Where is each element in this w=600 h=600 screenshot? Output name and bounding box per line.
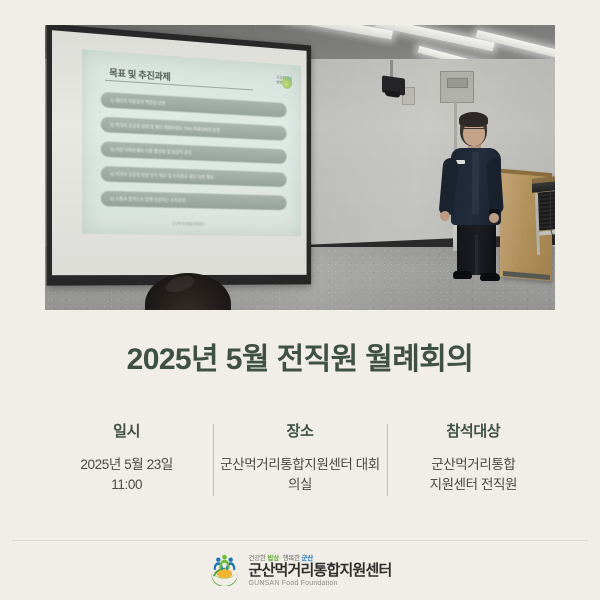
info-line: 군산먹거리통합지원센터 대회의실 [219, 455, 380, 494]
info-heading: 참석대상 [393, 420, 554, 441]
projection-screen: 목표 및 추진과제 건강한 밥상 행복한 군산 1) 재단의 자율성과 책임성 … [47, 25, 312, 286]
photo-scene: 목표 및 추진과제 건강한 밥상 행복한 군산 1) 재단의 자율성과 책임성 … [45, 25, 555, 310]
projector-icon [382, 75, 405, 95]
info-body: 2025년 5월 23일 11:00 [46, 455, 207, 494]
info-heading: 장소 [219, 420, 380, 441]
info-line: 11:00 [46, 475, 207, 495]
info-columns: 일시 2025년 5월 23일 11:00 장소 군산먹거리통합지원센터 대회의… [40, 420, 560, 494]
presenter-hair [459, 112, 488, 127]
presenter-shoe [480, 273, 500, 281]
tagline-middle: · 행복한 [279, 555, 302, 562]
organization-name-en: GUNSAN Food Foundation [248, 580, 391, 587]
info-line: 지원센터 전직원 [393, 475, 554, 495]
footer-divider [12, 540, 588, 541]
organization-name: 군산먹거리통합지원센터 [248, 563, 391, 579]
info-line: 군산먹거리통합 [393, 455, 554, 475]
tagline-blue-word: 군산 [302, 555, 314, 562]
slide-logo: 건강한 밥상 행복한 군산 [253, 74, 292, 92]
presenter [442, 113, 514, 288]
slide-footer-logo: 군산먹거리통합지원센터 [172, 221, 221, 230]
presenter-legs [457, 221, 496, 275]
info-column-location: 장소 군산먹거리통합지원센터 대회의실 [213, 420, 386, 494]
presenter-hand [440, 211, 450, 221]
page-title: 2025년 5월 전직원 월례회의 [0, 334, 600, 378]
organization-name-block: 건강한 밥상· 행복한 군산 군산먹거리통합지원센터 GUNSAN Food F… [248, 552, 391, 587]
tagline-prefix: 건강한 [248, 555, 267, 562]
organization-tagline: 건강한 밥상· 행복한 군산 [248, 552, 391, 562]
presenter-arm [486, 159, 504, 215]
header-photo: 목표 및 추진과제 건강한 밥상 행복한 군산 1) 재단의 자율성과 책임성 … [45, 25, 555, 310]
info-heading: 일시 [46, 420, 207, 441]
slide-bullet: 5) 소통과 협력으로 함께 성장하는 조직문화 [101, 191, 287, 211]
wall-control-box [440, 71, 474, 103]
slide-title-underline [105, 80, 253, 91]
tagline-green-word: 밥상 [267, 555, 279, 562]
info-body: 군산먹거리통합지원센터 대회의실 [219, 455, 380, 494]
info-body: 군산먹거리통합 지원센터 전직원 [393, 455, 554, 494]
presenter-shoe [453, 271, 472, 279]
slide-bullet: 3) 사업 이해관계자 소통 활성화 및 일상적 관리 [101, 141, 287, 164]
slide-bullet: 2) 먹거리 공공성 강화 및 재단 재정자립도 70% 목표(26년) 달성 [101, 117, 287, 141]
slide-logo-mark-icon [282, 76, 292, 89]
projection-screen-surface: 목표 및 추진과제 건강한 밥상 행복한 군산 1) 재단의 자율성과 책임성 … [52, 30, 307, 275]
slide-bullet: 4) 먹거리 공공성 강화 인식 제고 및 조직화로 재단 지변 확대 [101, 166, 287, 187]
organization-logo-icon [208, 553, 241, 586]
slide-bullet: 1) 재단의 자율성과 책임성 강화 [101, 92, 287, 118]
presenter-hand [489, 213, 499, 223]
projected-slide: 목표 및 추진과제 건강한 밥상 행복한 군산 1) 재단의 자율성과 책임성 … [82, 49, 301, 236]
logo-svg [208, 553, 241, 586]
footer-logo-block: 건강한 밥상· 행복한 군산 군산먹거리통합지원센터 GUNSAN Food F… [0, 552, 600, 587]
info-column-datetime: 일시 2025년 5월 23일 11:00 [40, 420, 213, 494]
info-column-attendees: 참석대상 군산먹거리통합 지원센터 전직원 [387, 420, 560, 494]
info-line: 2025년 5월 23일 [46, 455, 207, 475]
glasses-icon [463, 128, 485, 134]
